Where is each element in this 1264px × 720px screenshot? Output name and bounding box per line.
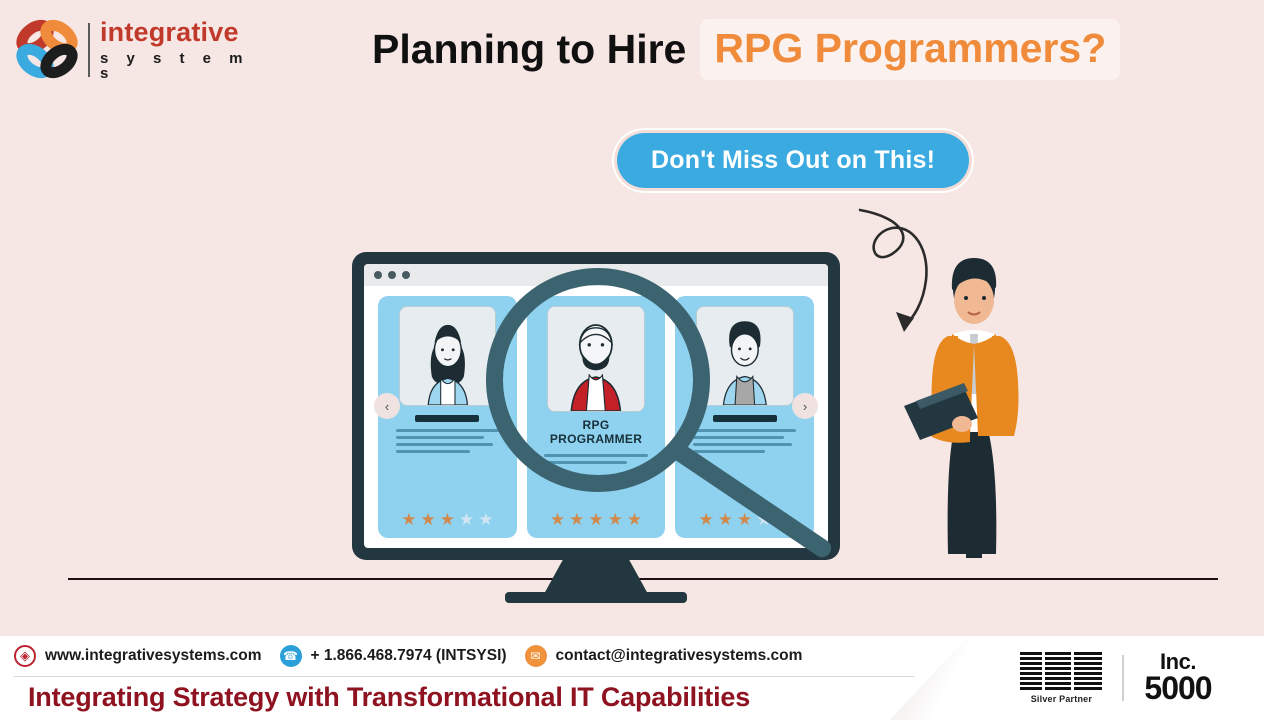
person-illustration bbox=[896, 238, 1046, 580]
window-dot-icon bbox=[402, 271, 410, 279]
carousel-prev-button[interactable]: ‹ bbox=[374, 393, 400, 419]
logo-divider bbox=[88, 23, 90, 77]
window-dot-icon bbox=[388, 271, 396, 279]
inc5000-bottom-text: 5000 bbox=[1144, 673, 1211, 703]
magnifier-lens-icon bbox=[486, 268, 710, 492]
candidate-rating: ★★★ ★★ bbox=[401, 503, 493, 528]
carousel-next-button[interactable]: › bbox=[792, 393, 818, 419]
cta-button-label: Don't Miss Out on This! bbox=[617, 133, 969, 188]
logo-mark-icon bbox=[10, 13, 84, 87]
candidate-name-bar bbox=[415, 415, 479, 422]
cta-button[interactable]: Don't Miss Out on This! bbox=[612, 128, 974, 193]
headline-highlight-box: RPG Programmers? bbox=[700, 19, 1120, 80]
headline-black-text: Planning to Hire bbox=[372, 26, 686, 73]
footer-divider bbox=[14, 676, 914, 677]
logo-name: integrative bbox=[100, 19, 270, 46]
phone-icon: ☎ bbox=[280, 645, 302, 667]
footer-phone-text: + 1.866.468.7974 (INTSYSI) bbox=[311, 647, 507, 665]
candidate-name-bar bbox=[713, 415, 777, 422]
monitor-stand-neck bbox=[544, 560, 648, 594]
footer-email-text: contact@integrativesystems.com bbox=[556, 647, 803, 665]
partner-divider bbox=[1122, 655, 1124, 701]
window-dot-icon bbox=[374, 271, 382, 279]
candidate-rating: ★★★ ★★ bbox=[550, 503, 642, 528]
ibm-partner-level: Silver Partner bbox=[1031, 694, 1092, 704]
candidate-detail-lines bbox=[693, 429, 796, 453]
globe-icon: ◈ bbox=[14, 645, 36, 667]
company-logo[interactable]: integrative s y s t e m s bbox=[10, 10, 270, 90]
logo-subtitle: s y s t e m s bbox=[100, 51, 270, 81]
ibm-mark-icon bbox=[1020, 652, 1102, 690]
headline: Planning to Hire RPG Programmers? bbox=[372, 18, 1120, 80]
mail-icon: ✉ bbox=[525, 645, 547, 667]
monitor-stand-base bbox=[505, 592, 687, 603]
footer-website-text: www.integrativesystems.com bbox=[45, 647, 262, 665]
candidate-detail-lines bbox=[396, 429, 499, 453]
banner-canvas: integrative s y s t e m s Planning to Hi… bbox=[0, 0, 1264, 720]
ibm-logo: Silver Partner bbox=[1020, 652, 1102, 704]
footer-email[interactable]: ✉ contact@integrativesystems.com bbox=[525, 645, 803, 667]
candidate-avatar bbox=[696, 306, 794, 406]
footer-tagline: Integrating Strategy with Transformation… bbox=[28, 682, 750, 713]
inc5000-logo: Inc. 5000 bbox=[1144, 652, 1211, 703]
partner-logos: Silver Partner Inc. 5000 bbox=[968, 636, 1264, 720]
footer-phone[interactable]: ☎ + 1.866.468.7974 (INTSYSI) bbox=[280, 645, 507, 667]
footer-website[interactable]: ◈ www.integrativesystems.com bbox=[14, 645, 262, 667]
candidate-avatar bbox=[399, 306, 497, 406]
headline-orange-text: RPG Programmers? bbox=[714, 25, 1106, 71]
